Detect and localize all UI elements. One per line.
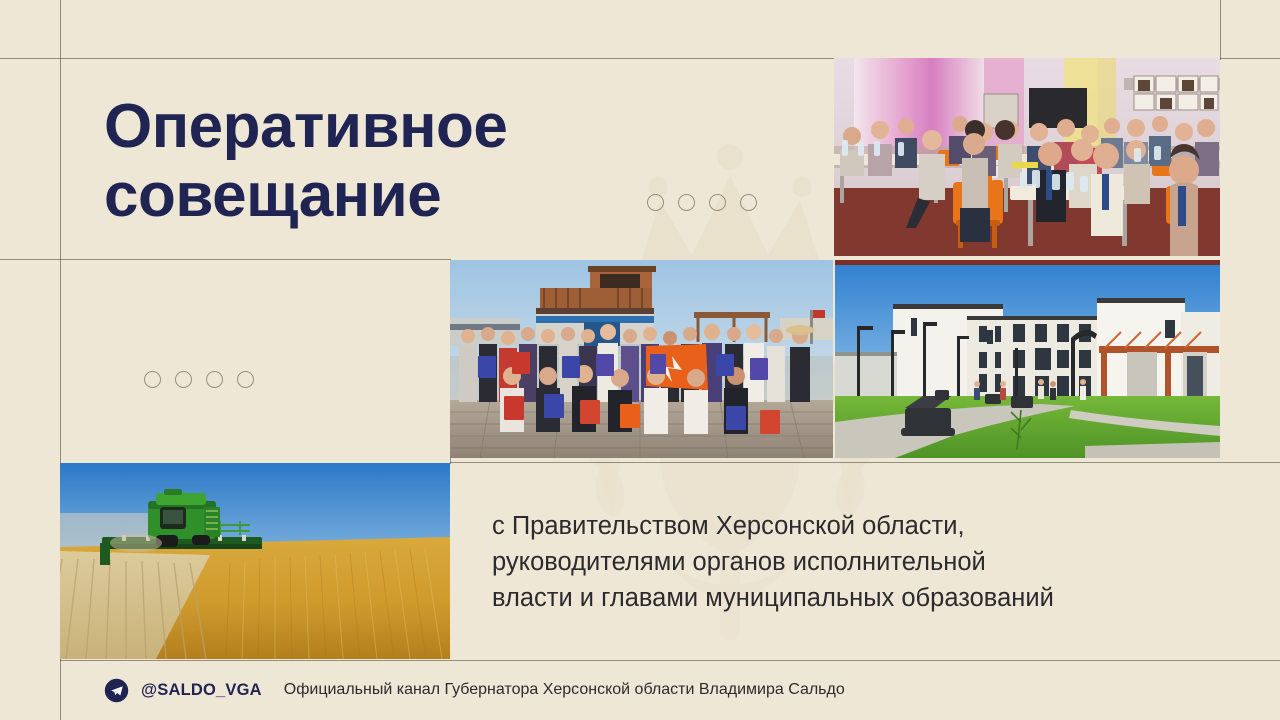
decor-dot — [647, 194, 664, 211]
grid-line-horizontal-lower — [450, 462, 1280, 463]
photo-conference — [834, 58, 1220, 256]
grid-line-vertical-right — [1220, 0, 1221, 60]
decor-dot — [678, 194, 695, 211]
grid-line-horizontal-mid — [0, 259, 450, 260]
decor-dot — [175, 371, 192, 388]
decor-dots-top — [647, 194, 757, 211]
decor-dot — [144, 371, 161, 388]
decor-dot — [740, 194, 757, 211]
photo-campus — [835, 260, 1220, 458]
photo-group — [450, 260, 833, 458]
decor-dot — [237, 371, 254, 388]
decor-dots-middle — [144, 371, 254, 388]
decor-dot — [206, 371, 223, 388]
slide-canvas: Оперативное совещание — [0, 0, 1280, 720]
decor-dot — [709, 194, 726, 211]
slide-subtitle: с Правительством Херсонской области, рук… — [492, 508, 1222, 617]
footer-description: Официальный канал Губернатора Херсонской… — [284, 681, 845, 699]
telegram-handle[interactable]: @SALDO_VGA — [141, 681, 262, 700]
photo-harvest — [60, 463, 450, 659]
telegram-icon[interactable] — [104, 678, 129, 703]
footer: @SALDO_VGA Официальный канал Губернатора… — [0, 660, 1280, 720]
